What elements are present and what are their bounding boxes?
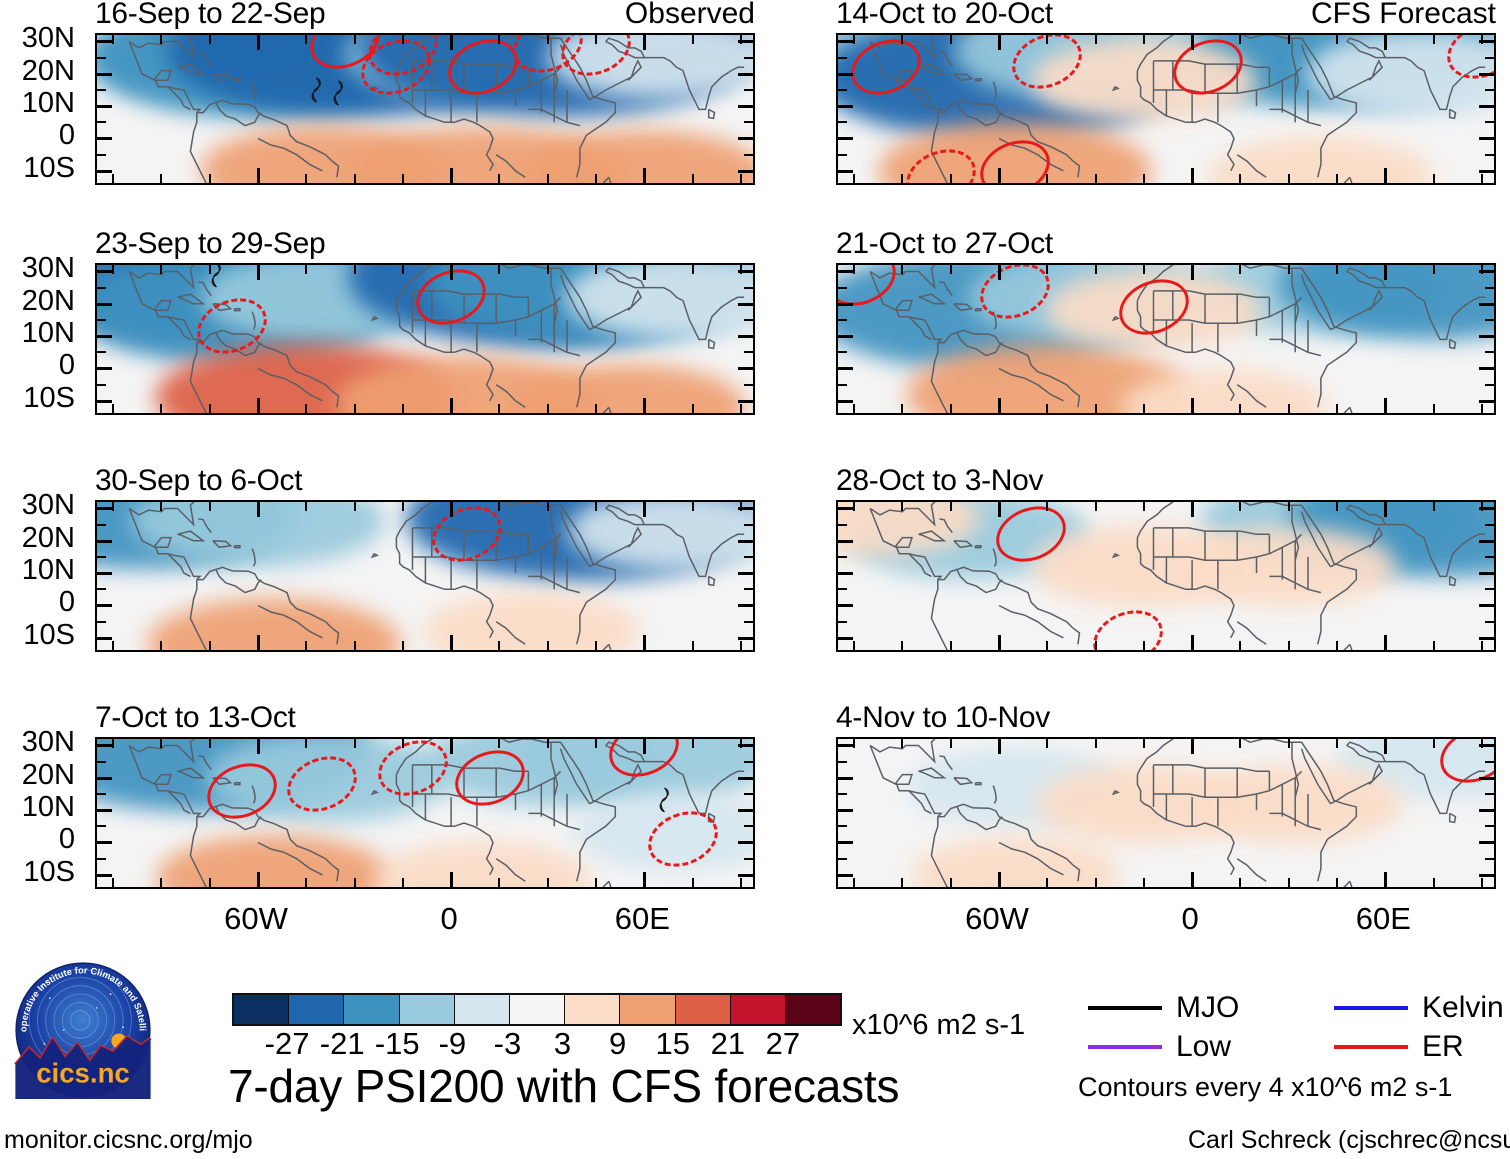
- axis-tick: [1485, 384, 1494, 386]
- axis-tick: [738, 40, 753, 43]
- axis-tick: [853, 404, 855, 413]
- axis-tick: [838, 793, 847, 795]
- axis-tick: [692, 404, 694, 413]
- axis-tick: [950, 265, 952, 274]
- lat-tick-label: 20N: [22, 524, 85, 553]
- axis-tick: [1479, 170, 1494, 173]
- axis-tick: [257, 502, 260, 517]
- axis-tick: [257, 872, 260, 887]
- axis-tick: [97, 137, 112, 140]
- lat-tick-label: 10S: [23, 154, 85, 183]
- axis-tick: [97, 825, 106, 827]
- axis-tick: [838, 588, 847, 590]
- axis-tick: [998, 739, 1001, 754]
- axis-tick: [1433, 502, 1435, 511]
- axis-tick: [112, 878, 114, 887]
- axis-tick: [998, 635, 1001, 650]
- axis-tick: [450, 168, 453, 183]
- axis-tick: [97, 319, 106, 321]
- axis-tick: [1336, 878, 1338, 887]
- map-plot-area: [836, 263, 1496, 415]
- axis-tick: [1191, 635, 1194, 650]
- axis-tick: [1479, 777, 1494, 780]
- lat-tick-label: 10N: [22, 793, 85, 822]
- colorbar-tick-label: -21: [320, 1028, 365, 1059]
- axis-tick: [744, 89, 753, 91]
- lat-tick-label: 0: [59, 121, 85, 150]
- axis-tick: [998, 168, 1001, 183]
- lat-tick-label: 10N: [22, 89, 85, 118]
- axis-tick: [1485, 588, 1494, 590]
- panel-title: 7-Oct to 13-Oct: [95, 703, 296, 733]
- axis-tick: [838, 637, 853, 640]
- map-plot-area: [95, 263, 755, 415]
- axis-tick: [209, 174, 211, 183]
- axis-tick: [305, 641, 307, 650]
- axis-tick: [402, 265, 404, 274]
- axis-tick: [1384, 635, 1387, 650]
- axis-tick: [305, 174, 307, 183]
- axis-tick: [1384, 502, 1387, 517]
- colorbar-tick-label: -3: [494, 1028, 522, 1059]
- legend-label: Kelvin x2: [1422, 993, 1510, 1023]
- axis-tick: [901, 35, 903, 44]
- axis-tick: [1485, 825, 1494, 827]
- column-header: Observed: [625, 0, 755, 29]
- axis-tick: [97, 744, 112, 747]
- axis-tick: [97, 874, 112, 877]
- axis-tick: [744, 588, 753, 590]
- axis-tick: [744, 319, 753, 321]
- axis-tick: [209, 641, 211, 650]
- axis-tick: [1046, 739, 1048, 748]
- axis-tick: [402, 502, 404, 511]
- axis-tick: [1143, 739, 1145, 748]
- axis-tick: [1433, 739, 1435, 748]
- logo-wordmark: cics.nc: [36, 1057, 130, 1088]
- axis-tick: [257, 398, 260, 413]
- lat-tick-label: 0: [59, 825, 85, 854]
- lon-tick-label: 60E: [1356, 903, 1411, 934]
- axis-tick: [738, 809, 753, 812]
- axis-tick: [1479, 507, 1494, 510]
- axis-tick: [1384, 739, 1387, 754]
- axis-tick: [160, 878, 162, 887]
- axis-tick: [1288, 878, 1290, 887]
- axis-tick: [838, 57, 847, 59]
- axis-tick: [97, 809, 112, 812]
- axis-tick: [402, 641, 404, 650]
- colorbar-tick-label: 9: [609, 1028, 626, 1059]
- axis-tick: [738, 540, 753, 543]
- axis-tick: [838, 540, 853, 543]
- lon-tick-label: 0: [441, 903, 458, 934]
- axis-tick: [838, 270, 853, 273]
- axis-tick: [1479, 137, 1494, 140]
- axis-tick: [901, 265, 903, 274]
- axis-tick: [112, 174, 114, 183]
- axis-tick: [1288, 739, 1290, 748]
- axis-tick: [1143, 502, 1145, 511]
- axis-tick: [1143, 878, 1145, 887]
- axis-tick: [738, 507, 753, 510]
- axis-tick: [160, 265, 162, 274]
- axis-tick: [838, 105, 853, 108]
- axis-tick: [1479, 303, 1494, 306]
- legend-item-kelvin-x2: Kelvin x2: [1334, 993, 1510, 1023]
- axis-tick: [998, 398, 1001, 413]
- axis-tick: [950, 739, 952, 748]
- axis-tick: [97, 841, 112, 844]
- axis-tick: [744, 524, 753, 526]
- panel-title: 4-Nov to 10-Nov: [836, 703, 1050, 733]
- axis-tick: [853, 641, 855, 650]
- axis-tick: [450, 635, 453, 650]
- lon-tick-label: 60W: [965, 903, 1029, 934]
- legend-line-swatch: [1088, 1045, 1162, 1049]
- axis-tick: [838, 507, 853, 510]
- axis-tick: [853, 739, 855, 748]
- colorbar-tick-label: 21: [711, 1028, 745, 1059]
- axis-tick: [1191, 502, 1194, 517]
- axis-tick: [498, 878, 500, 887]
- axis-tick: [901, 739, 903, 748]
- axis-tick: [1239, 35, 1241, 44]
- axis-tick: [738, 874, 753, 877]
- axis-tick: [97, 604, 112, 607]
- axis-tick: [450, 265, 453, 280]
- axis-tick: [738, 841, 753, 844]
- axis-tick: [1095, 502, 1097, 511]
- axis-tick: [498, 739, 500, 748]
- legend-label: MJO: [1176, 993, 1239, 1023]
- axis-tick: [595, 35, 597, 44]
- legend-line-swatch: [1334, 1006, 1408, 1010]
- axis-tick: [547, 878, 549, 887]
- axis-tick: [1191, 168, 1194, 183]
- axis-tick: [950, 641, 952, 650]
- axis-tick: [1479, 105, 1494, 108]
- axis-tick: [738, 137, 753, 140]
- axis-tick: [97, 507, 112, 510]
- axis-tick: [209, 878, 211, 887]
- axis-tick: [595, 265, 597, 274]
- axis-tick: [1481, 878, 1483, 887]
- colorbar-tick-label: -27: [265, 1028, 310, 1059]
- colorbar-swatch: [400, 995, 455, 1024]
- axis-tick: [643, 265, 646, 280]
- axis-tick: [112, 502, 114, 511]
- axis-tick: [1239, 502, 1241, 511]
- axis-tick: [547, 404, 549, 413]
- colorbar-swatch: [510, 995, 565, 1024]
- axis-tick: [112, 35, 114, 44]
- axis-tick: [97, 777, 112, 780]
- axis-tick: [160, 174, 162, 183]
- colorbar-swatch: [565, 995, 620, 1024]
- axis-tick: [97, 170, 112, 173]
- axis-tick: [209, 404, 211, 413]
- axis-tick: [744, 384, 753, 386]
- axis-tick: [97, 121, 106, 123]
- axis-tick: [97, 89, 106, 91]
- axis-tick: [97, 270, 112, 273]
- lat-tick-label: 10S: [23, 384, 85, 413]
- axis-tick: [901, 641, 903, 650]
- axis-tick: [1191, 398, 1194, 413]
- axis-tick: [402, 739, 404, 748]
- axis-tick: [838, 384, 847, 386]
- axis-tick: [1191, 739, 1194, 754]
- axis-tick: [257, 739, 260, 754]
- axis-tick: [1479, 367, 1494, 370]
- axis-tick: [1384, 168, 1387, 183]
- axis-tick: [853, 878, 855, 887]
- axis-tick: [838, 825, 847, 827]
- axis-tick: [547, 265, 549, 274]
- axis-tick: [97, 761, 106, 763]
- axis-tick: [1046, 641, 1048, 650]
- axis-tick: [643, 872, 646, 887]
- axis-tick: [450, 872, 453, 887]
- axis-tick: [1485, 858, 1494, 860]
- axis-tick: [97, 588, 106, 590]
- axis-tick: [838, 121, 847, 123]
- axis-tick: [744, 154, 753, 156]
- axis-tick: [692, 878, 694, 887]
- legend-item-mjo: MJO: [1088, 993, 1239, 1023]
- axis-tick: [498, 502, 500, 511]
- axis-tick: [257, 265, 260, 280]
- axis-tick: [97, 303, 112, 306]
- lat-tick-label: 30N: [22, 24, 85, 53]
- colorbar-swatch: [676, 995, 731, 1024]
- axis-tick: [738, 335, 753, 338]
- legend-line-swatch: [1088, 1006, 1162, 1010]
- lat-tick-label: 0: [59, 588, 85, 617]
- lat-tick-label: 20N: [22, 57, 85, 86]
- axis-tick: [1479, 400, 1494, 403]
- axis-tick: [838, 170, 853, 173]
- axis-tick: [1095, 739, 1097, 748]
- axis-tick: [1481, 174, 1483, 183]
- axis-tick: [950, 35, 952, 44]
- axis-tick: [950, 878, 952, 887]
- axis-tick: [354, 404, 356, 413]
- axis-tick: [692, 174, 694, 183]
- axis-tick: [838, 761, 847, 763]
- axis-tick: [950, 502, 952, 511]
- axis-tick: [595, 404, 597, 413]
- axis-tick: [744, 287, 753, 289]
- axis-tick: [1433, 265, 1435, 274]
- axis-tick: [498, 35, 500, 44]
- axis-tick: [1095, 641, 1097, 650]
- axis-tick: [1143, 404, 1145, 413]
- axis-tick: [97, 400, 112, 403]
- axis-tick: [1191, 35, 1194, 50]
- axis-tick: [998, 872, 1001, 887]
- map-plot-area: [95, 737, 755, 889]
- axis-tick: [97, 154, 106, 156]
- axis-tick: [1143, 174, 1145, 183]
- map-plot-area: [836, 737, 1496, 889]
- axis-tick: [950, 174, 952, 183]
- axis-tick: [838, 572, 853, 575]
- axis-tick: [1479, 809, 1494, 812]
- axis-tick: [354, 35, 356, 44]
- axis-tick: [1288, 35, 1290, 44]
- axis-tick: [838, 335, 853, 338]
- axis-tick: [738, 777, 753, 780]
- axis-tick: [901, 878, 903, 887]
- axis-tick: [595, 174, 597, 183]
- axis-tick: [1239, 739, 1241, 748]
- axis-tick: [838, 303, 853, 306]
- axis-tick: [97, 540, 112, 543]
- axis-tick: [838, 351, 847, 353]
- tropical-cyclone-icon: [308, 77, 325, 103]
- legend-item-low: Low: [1088, 1032, 1231, 1062]
- axis-tick: [738, 572, 753, 575]
- axis-tick: [1479, 40, 1494, 43]
- axis-tick: [402, 404, 404, 413]
- colorbar-tick-label: 27: [766, 1028, 800, 1059]
- map-plot-area: [95, 500, 755, 652]
- column-header: CFS Forecast: [1311, 0, 1496, 29]
- axis-tick: [738, 367, 753, 370]
- axis-tick: [744, 351, 753, 353]
- axis-tick: [853, 35, 855, 44]
- axis-tick: [498, 641, 500, 650]
- lat-tick-label: 20N: [22, 761, 85, 790]
- axis-tick: [97, 793, 106, 795]
- legend-item-er: ER: [1334, 1032, 1464, 1062]
- axis-tick: [901, 502, 903, 511]
- axis-tick: [853, 174, 855, 183]
- axis-tick: [1288, 404, 1290, 413]
- lon-tick-label: 0: [1182, 903, 1199, 934]
- axis-tick: [97, 287, 106, 289]
- axis-tick: [838, 89, 847, 91]
- axis-tick: [1384, 265, 1387, 280]
- axis-tick: [1485, 351, 1494, 353]
- colorbar-tick-label: -15: [375, 1028, 420, 1059]
- axis-tick: [692, 502, 694, 511]
- axis-tick: [112, 739, 114, 748]
- axis-tick: [1485, 57, 1494, 59]
- axis-tick: [1288, 641, 1290, 650]
- axis-tick: [1336, 174, 1338, 183]
- axis-tick: [547, 174, 549, 183]
- axis-tick: [738, 604, 753, 607]
- axis-tick: [838, 73, 853, 76]
- axis-tick: [547, 35, 549, 44]
- axis-tick: [1485, 287, 1494, 289]
- site-url[interactable]: monitor.cicsnc.org/mjo: [4, 1126, 253, 1155]
- axis-tick: [97, 384, 106, 386]
- axis-tick: [853, 265, 855, 274]
- axis-tick: [1239, 641, 1241, 650]
- panel-title: 28-Oct to 3-Nov: [836, 466, 1043, 496]
- colorbar-swatch: [786, 995, 840, 1024]
- axis-tick: [738, 170, 753, 173]
- axis-tick: [1288, 502, 1290, 511]
- axis-tick: [209, 739, 211, 748]
- axis-tick: [160, 641, 162, 650]
- map-plot-area: [836, 500, 1496, 652]
- axis-tick: [1046, 404, 1048, 413]
- axis-tick: [1095, 878, 1097, 887]
- axis-tick: [160, 739, 162, 748]
- axis-tick: [354, 502, 356, 511]
- axis-tick: [209, 265, 211, 274]
- axis-tick: [1143, 641, 1145, 650]
- axis-tick: [305, 404, 307, 413]
- axis-tick: [740, 878, 742, 887]
- colorbar-tick-label: -9: [439, 1028, 467, 1059]
- panel-title: 23-Sep to 29-Sep: [95, 229, 325, 259]
- axis-tick: [1384, 872, 1387, 887]
- lon-tick-label: 60E: [615, 903, 670, 934]
- axis-tick: [1479, 73, 1494, 76]
- lat-tick-label: 0: [59, 351, 85, 380]
- axis-tick: [305, 878, 307, 887]
- axis-tick: [998, 35, 1001, 50]
- axis-tick: [97, 556, 106, 558]
- axis-tick: [1046, 502, 1048, 511]
- axis-tick: [450, 502, 453, 517]
- axis-tick: [901, 404, 903, 413]
- axis-tick: [738, 270, 753, 273]
- axis-tick: [402, 878, 404, 887]
- axis-tick: [1485, 621, 1494, 623]
- axis-tick: [1479, 572, 1494, 575]
- legend-label: ER: [1422, 1032, 1464, 1062]
- axis-tick: [738, 400, 753, 403]
- axis-tick: [1046, 35, 1048, 44]
- axis-tick: [643, 168, 646, 183]
- panel-title: 30-Sep to 6-Oct: [95, 466, 302, 496]
- axis-tick: [1239, 265, 1241, 274]
- axis-tick: [1479, 744, 1494, 747]
- axis-tick: [1095, 174, 1097, 183]
- axis-tick: [1479, 270, 1494, 273]
- axis-tick: [1479, 874, 1494, 877]
- axis-tick: [950, 404, 952, 413]
- axis-tick: [643, 502, 646, 517]
- axis-tick: [1479, 335, 1494, 338]
- legend-line-swatch: [1334, 1045, 1408, 1049]
- colorbar-swatch: [234, 995, 289, 1024]
- axis-tick: [744, 121, 753, 123]
- lat-tick-label: 10S: [23, 858, 85, 887]
- axis-tick: [692, 641, 694, 650]
- axis-tick: [305, 35, 307, 44]
- axis-tick: [1485, 761, 1494, 763]
- axis-tick: [97, 367, 112, 370]
- axis-tick: [97, 335, 112, 338]
- axis-tick: [97, 621, 106, 623]
- axis-tick: [305, 265, 307, 274]
- axis-tick: [838, 621, 847, 623]
- cics-nc-logo: cics.nc Cooperative Institute for Climat…: [14, 961, 152, 1099]
- axis-tick: [1384, 35, 1387, 50]
- axis-tick: [354, 174, 356, 183]
- axis-tick: [354, 265, 356, 274]
- axis-tick: [838, 367, 853, 370]
- axis-tick: [1485, 121, 1494, 123]
